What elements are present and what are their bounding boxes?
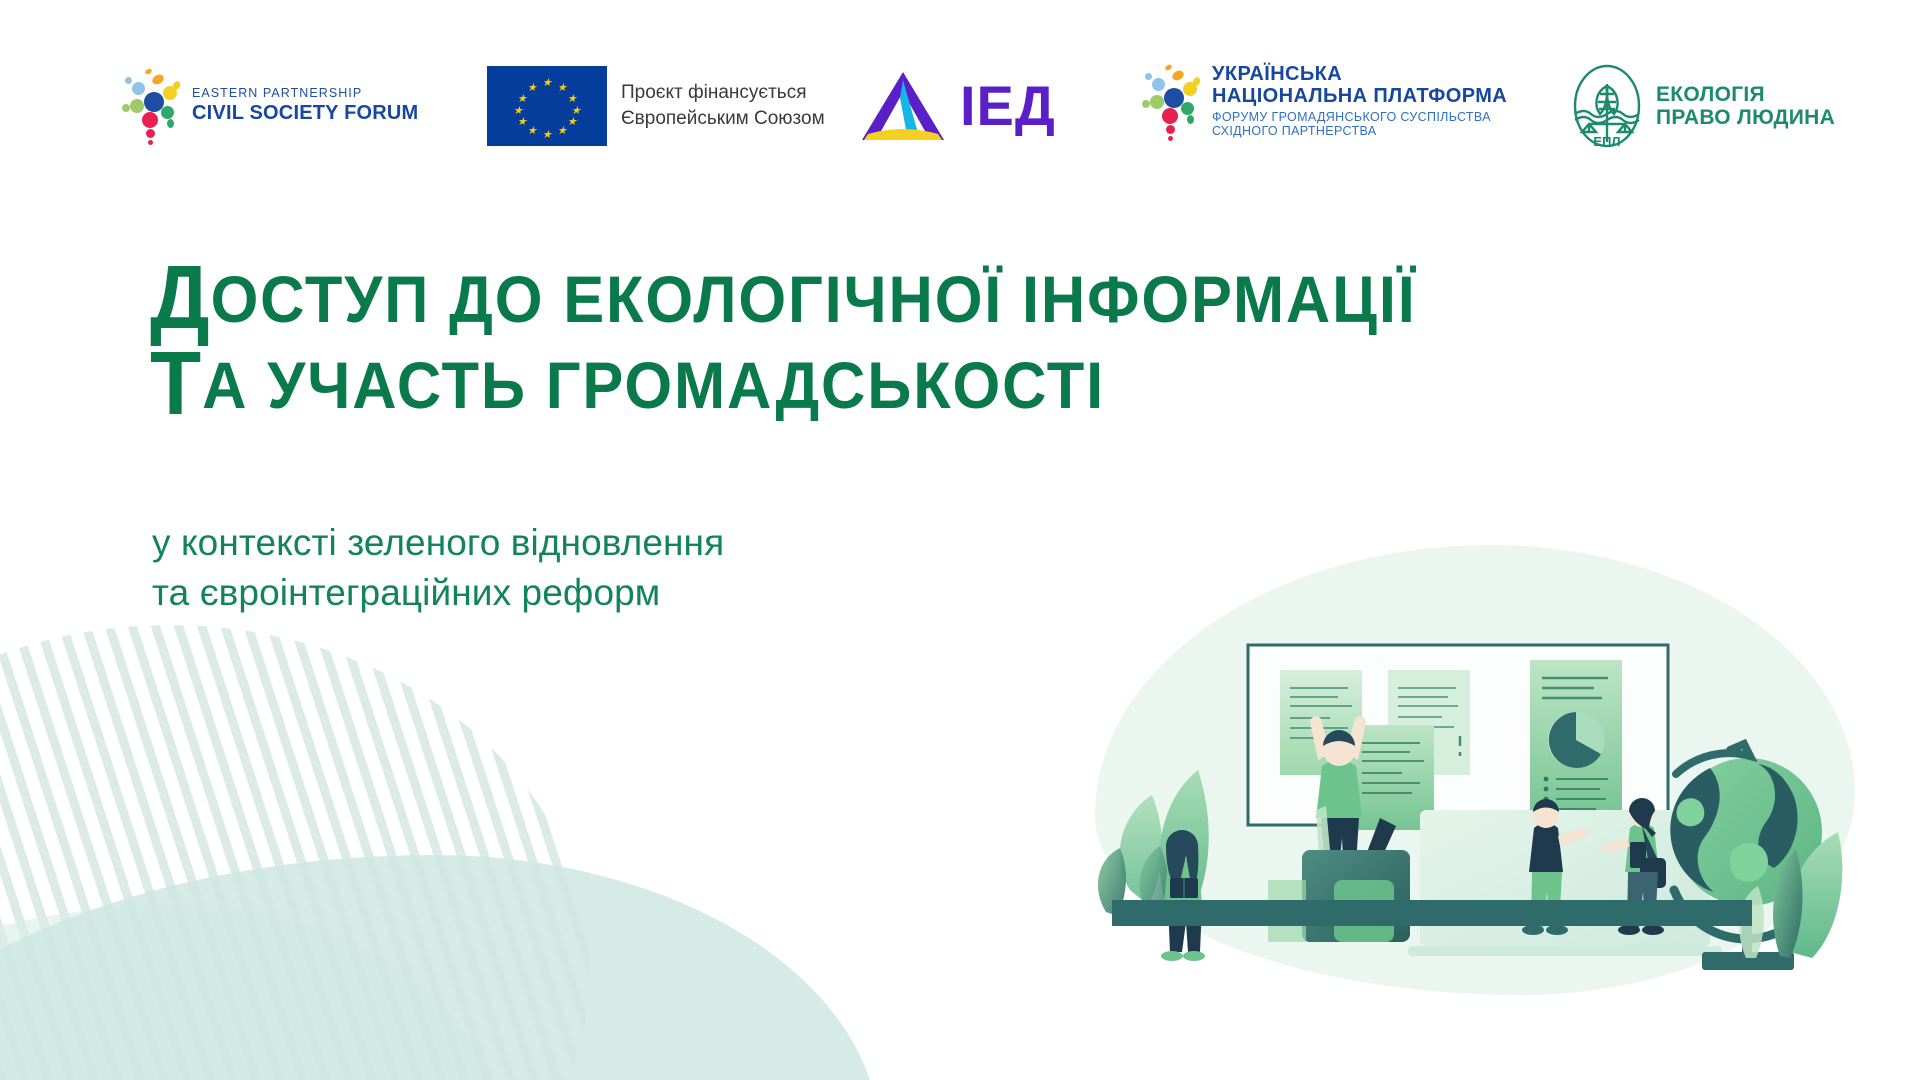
wave-decoration-back bbox=[0, 905, 500, 1080]
csf-dot-pinwheel-icon bbox=[120, 66, 182, 144]
logo-epl: ЕПЛ ЕКОЛОГІЯ ПРАВО ЛЮДИНА bbox=[1570, 64, 1835, 148]
title-line-2-capital: Т bbox=[150, 334, 202, 434]
unp-line2: НАЦІОНАЛЬНА ПЛАТФОРМА bbox=[1212, 86, 1507, 108]
csf-line2: CIVIL SOCIETY FORUM bbox=[192, 103, 418, 123]
epl-leaf-scales-icon: ЕПЛ bbox=[1570, 64, 1644, 148]
epl-line1: ЕКОЛОГІЯ bbox=[1656, 83, 1835, 106]
title-line-2: ТА УЧАСТЬ ГРОМАДСЬКОСТІ bbox=[150, 348, 1601, 420]
csf-line1: EASTERN PARTNERSHIP bbox=[192, 87, 418, 100]
title-line-1-capital: Д bbox=[150, 248, 211, 348]
chart-poster bbox=[1530, 660, 1622, 820]
presentation-slide: EASTERN PARTNERSHIP CIVIL SOCIETY FORUM … bbox=[0, 0, 1920, 1080]
unp-line1: УКРАЇНСЬКА bbox=[1212, 64, 1507, 86]
unp-dot-pinwheel-icon bbox=[1140, 62, 1202, 140]
epl-mark-text: ЕПЛ bbox=[1593, 134, 1620, 148]
epl-line2: ПРАВО ЛЮДИНА bbox=[1656, 106, 1835, 129]
subtitle-line-1: у контексті зеленого відновлення bbox=[152, 518, 724, 568]
striped-circle-decoration bbox=[0, 625, 590, 1080]
title-block: ДОСТУП ДО ЕКОЛОГІЧНОЇ ІНФОРМАЦІЇ ТА УЧАС… bbox=[150, 262, 1710, 420]
unp-line3: ФОРУМУ ГРОМАДЯНСЬКОГО СУСПІЛЬСТВА bbox=[1212, 111, 1507, 125]
title-line-2-rest: А УЧАСТЬ ГРОМАДСЬКОСТІ bbox=[202, 348, 1105, 422]
illustration-people-documents-globe bbox=[1090, 560, 1890, 1030]
logo-ukrainian-national-platform: УКРАЇНСЬКА НАЦІОНАЛЬНА ПЛАТФОРМА ФОРУМУ … bbox=[1140, 62, 1507, 140]
ied-triangle-icon bbox=[860, 70, 946, 142]
title-line-1: ДОСТУП ДО ЕКОЛОГІЧНОЇ ІНФОРМАЦІЇ bbox=[150, 262, 1601, 334]
title-line-1-rest: ОСТУП ДО ЕКОЛОГІЧНОЇ ІНФОРМАЦІЇ bbox=[211, 262, 1417, 336]
logo-ied: ІЕД bbox=[860, 70, 1056, 142]
subtitle-block: у контексті зеленого відновлення та євро… bbox=[152, 518, 724, 617]
wave-decoration-front bbox=[0, 855, 880, 1080]
eu-line2: Європейським Союзом bbox=[621, 106, 825, 132]
logo-european-union: ★ ★ ★ ★ ★ ★ ★ ★ ★ ★ ★ ★ Проєкт фінансуєт… bbox=[487, 66, 825, 146]
eu-line1: Проєкт фінансується bbox=[621, 80, 825, 106]
unp-line4: СХІДНОГО ПАРТНЕРСТВА bbox=[1212, 125, 1507, 139]
partner-logo-bar: EASTERN PARTNERSHIP CIVIL SOCIETY FORUM … bbox=[0, 52, 1920, 168]
pie-chart bbox=[1548, 712, 1605, 768]
ied-wordmark: ІЕД bbox=[960, 78, 1056, 134]
logo-civil-society-forum: EASTERN PARTNERSHIP CIVIL SOCIETY FORUM bbox=[120, 66, 418, 144]
subtitle-line-2: та євроінтеграційних реформ bbox=[152, 568, 724, 618]
eu-flag-icon: ★ ★ ★ ★ ★ ★ ★ ★ ★ ★ ★ ★ bbox=[487, 66, 607, 146]
bench bbox=[1112, 900, 1752, 926]
